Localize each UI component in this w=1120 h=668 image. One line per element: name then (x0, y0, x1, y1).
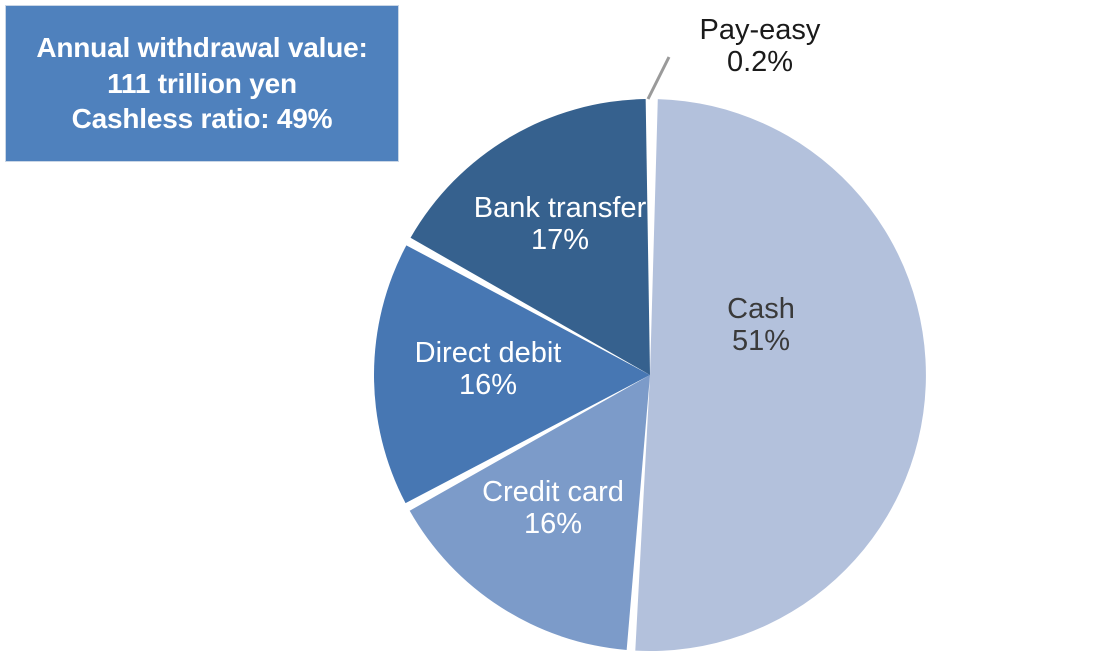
slice-label-pay-easy-value: 0.2% (655, 46, 865, 78)
slice-label-pay-easy: Pay-easy 0.2% (655, 14, 865, 79)
slice-label-pay-easy-name: Pay-easy (655, 14, 865, 46)
pie-slice-cash[interactable] (635, 99, 926, 651)
pie-chart (0, 0, 1120, 668)
pie-slice-group (374, 99, 926, 651)
